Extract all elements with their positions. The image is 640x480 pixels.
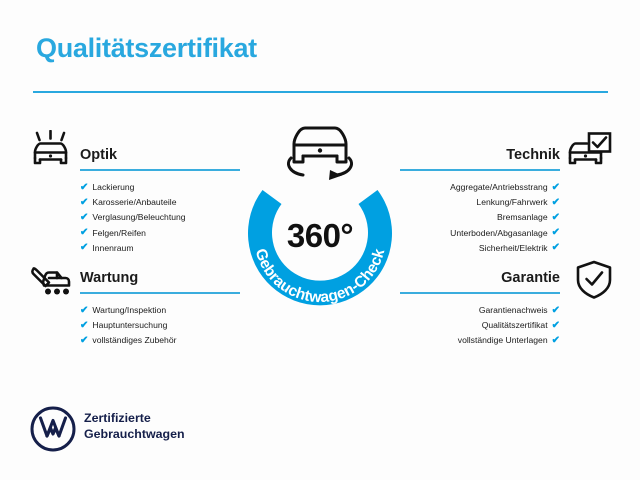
list-item: Sicherheit/Elektrik ✔ (400, 241, 560, 256)
list-item: Aggregate/Antriebsstrang ✔ (400, 180, 560, 195)
list-item-label: vollständige Unterlagen (458, 333, 548, 348)
list-item-label: Wartung/Inspektion (92, 303, 166, 318)
list-item: ✔ Hauptuntersuchung (80, 318, 176, 333)
list-item-label: Sicherheit/Elektrik (479, 241, 548, 256)
check-icon: ✔ (552, 243, 560, 253)
check-icon: ✔ (80, 228, 88, 238)
car-checkbox-icon (565, 130, 613, 174)
list-item-label: Lenkung/Fahrwerk (476, 195, 547, 210)
list-item: Bremsanlage ✔ (400, 210, 560, 225)
section-technik-divider (400, 169, 560, 171)
list-item-label: Karosserie/Anbauteile (92, 195, 176, 210)
car-wrench-icon (27, 258, 75, 302)
list-item: Unterboden/Abgasanlage ✔ (400, 226, 560, 241)
check-icon: ✔ (80, 213, 88, 223)
check-icon: ✔ (80, 306, 88, 316)
list-item-label: vollständiges Zubehör (92, 333, 176, 348)
section-technik-list: Aggregate/Antriebsstrang ✔ Lenkung/Fahrw… (400, 180, 560, 256)
check-icon: ✔ (552, 198, 560, 208)
list-item: Qualitätszertifikat ✔ (400, 318, 560, 333)
check-icon: ✔ (552, 213, 560, 223)
header-divider (33, 91, 608, 93)
section-garantie-title: Garantie (400, 268, 560, 288)
section-technik-head: Technik (400, 145, 560, 171)
list-item: Garantienachweis ✔ (400, 303, 560, 318)
check-icon: ✔ (80, 336, 88, 346)
list-item-label: Bremsanlage (497, 210, 548, 225)
list-item: ✔ Lackierung (80, 180, 186, 195)
check-icon: ✔ (552, 183, 560, 193)
footer-brand-text: Zertifizierte Gebrauchtwagen (84, 411, 185, 442)
section-garantie-divider (400, 292, 560, 294)
check-icon: ✔ (80, 198, 88, 208)
check-icon: ✔ (552, 228, 560, 238)
car-rotate-icon (272, 118, 368, 186)
section-garantie: Garantie Garantienachweis ✔ Qualitätszer… (400, 268, 560, 365)
list-item: ✔ Verglasung/Beleuchtung (80, 210, 186, 225)
page-title: Qualitätszertifikat (36, 33, 257, 64)
check-icon: ✔ (552, 306, 560, 316)
list-item-label: Qualitätszertifikat (482, 318, 548, 333)
list-item-label: Aggregate/Antriebsstrang (450, 180, 547, 195)
list-item-label: Unterboden/Abgasanlage (450, 226, 547, 241)
list-item: ✔ Wartung/Inspektion (80, 303, 176, 318)
section-wartung-head: Wartung (80, 268, 176, 294)
section-wartung-divider (80, 292, 240, 294)
list-item-label: Verglasung/Beleuchtung (92, 210, 185, 225)
shield-check-icon (570, 258, 618, 302)
car-shine-icon (27, 130, 75, 174)
check-icon: ✔ (80, 243, 88, 253)
check-icon: ✔ (552, 321, 560, 331)
check-icon: ✔ (80, 321, 88, 331)
section-technik: Technik Aggregate/Antriebsstrang ✔ Lenku… (400, 145, 560, 272)
list-item: ✔ Karosserie/Anbauteile (80, 195, 186, 210)
vw-logo (30, 406, 76, 452)
section-wartung-list: ✔ Wartung/Inspektion ✔ Hauptuntersuchung… (80, 303, 176, 349)
list-item-label: Hauptuntersuchung (92, 318, 167, 333)
section-technik-title: Technik (400, 145, 560, 165)
footer-line-1: Zertifizierte (84, 411, 185, 427)
section-optik: Optik ✔ Lackierung ✔ Karosserie/Anbautei… (80, 145, 186, 272)
section-optik-list: ✔ Lackierung ✔ Karosserie/Anbauteile ✔ V… (80, 180, 186, 256)
list-item: ✔ Felgen/Reifen (80, 226, 186, 241)
list-item: vollständige Unterlagen ✔ (400, 333, 560, 348)
footer-line-2: Gebrauchtwagen (84, 427, 185, 443)
list-item: ✔ Innenraum (80, 241, 186, 256)
list-item: Lenkung/Fahrwerk ✔ (400, 195, 560, 210)
list-item-label: Garantienachweis (479, 303, 548, 318)
section-wartung-title: Wartung (80, 268, 176, 288)
section-garantie-list: Garantienachweis ✔ Qualitätszertifikat ✔… (400, 303, 560, 349)
list-item-label: Innenraum (92, 241, 133, 256)
check-icon: ✔ (552, 336, 560, 346)
section-optik-head: Optik (80, 145, 186, 171)
section-optik-divider (80, 169, 240, 171)
list-item-label: Felgen/Reifen (92, 226, 146, 241)
check-icon: ✔ (80, 183, 88, 193)
section-wartung: Wartung ✔ Wartung/Inspektion ✔ Hauptunte… (80, 268, 176, 365)
section-garantie-head: Garantie (400, 268, 560, 294)
list-item-label: Lackierung (92, 180, 134, 195)
section-optik-title: Optik (80, 145, 186, 165)
list-item: ✔ vollständiges Zubehör (80, 333, 176, 348)
